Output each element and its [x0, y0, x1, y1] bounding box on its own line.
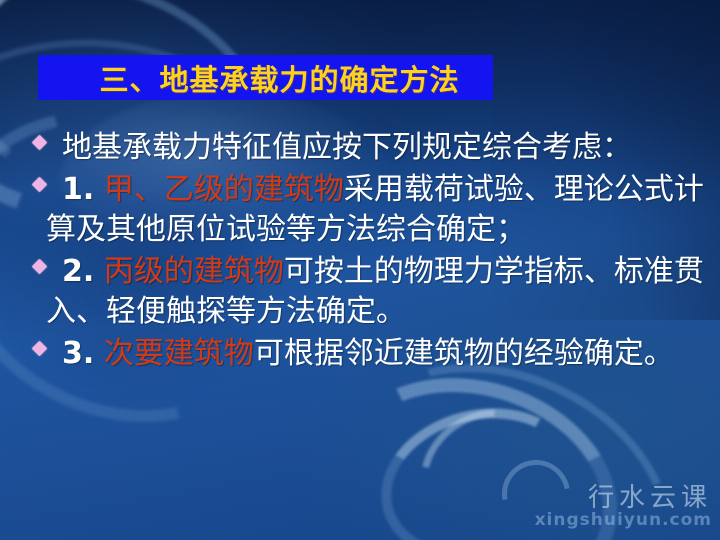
bullet-highlight-text: 甲、乙级的建筑物	[104, 172, 344, 207]
bullet-number: 2.	[62, 254, 94, 289]
bullet-content: 地基承载力特征值应按下列规定综合考虑：	[28, 128, 704, 168]
bullet-number: 1.	[62, 172, 94, 207]
bullet-body-text: 可根据邻近建筑物的经验确定。	[254, 336, 674, 371]
bullet-list: 地基承载力特征值应按下列规定综合考虑： 1. 甲、乙级的建筑物采用载荷试验、理论…	[28, 128, 704, 376]
list-item: 3. 次要建筑物可根据邻近建筑物的经验确定。	[28, 334, 704, 374]
list-item: 2. 丙级的建筑物可按土的物理力学指标、标准贯入、轻便触探等方法确定。	[28, 252, 704, 332]
bullet-content: 3. 次要建筑物可根据邻近建筑物的经验确定。	[28, 334, 704, 374]
bullet-highlight-text: 丙级的建筑物	[104, 254, 284, 289]
list-item: 地基承载力特征值应按下列规定综合考虑：	[28, 128, 704, 168]
slide-title: 三、地基承载力的确定方法	[99, 57, 459, 99]
bullet-number: 3.	[62, 336, 94, 371]
title-banner: 三、地基承载力的确定方法	[38, 55, 493, 100]
bullet-body-text: 地基承载力特征值应按下列规定综合考虑：	[62, 130, 632, 165]
list-item: 1. 甲、乙级的建筑物采用载荷试验、理论公式计算及其他原位试验等方法综合确定；	[28, 170, 704, 250]
bullet-highlight-text: 次要建筑物	[104, 336, 254, 371]
slide-canvas: 三、地基承载力的确定方法 地基承载力特征值应按下列规定综合考虑： 1. 甲、乙级…	[0, 0, 720, 540]
bullet-content: 2. 丙级的建筑物可按土的物理力学指标、标准贯入、轻便触探等方法确定。	[28, 252, 704, 332]
bullet-content: 1. 甲、乙级的建筑物采用载荷试验、理论公式计算及其他原位试验等方法综合确定；	[28, 170, 704, 250]
